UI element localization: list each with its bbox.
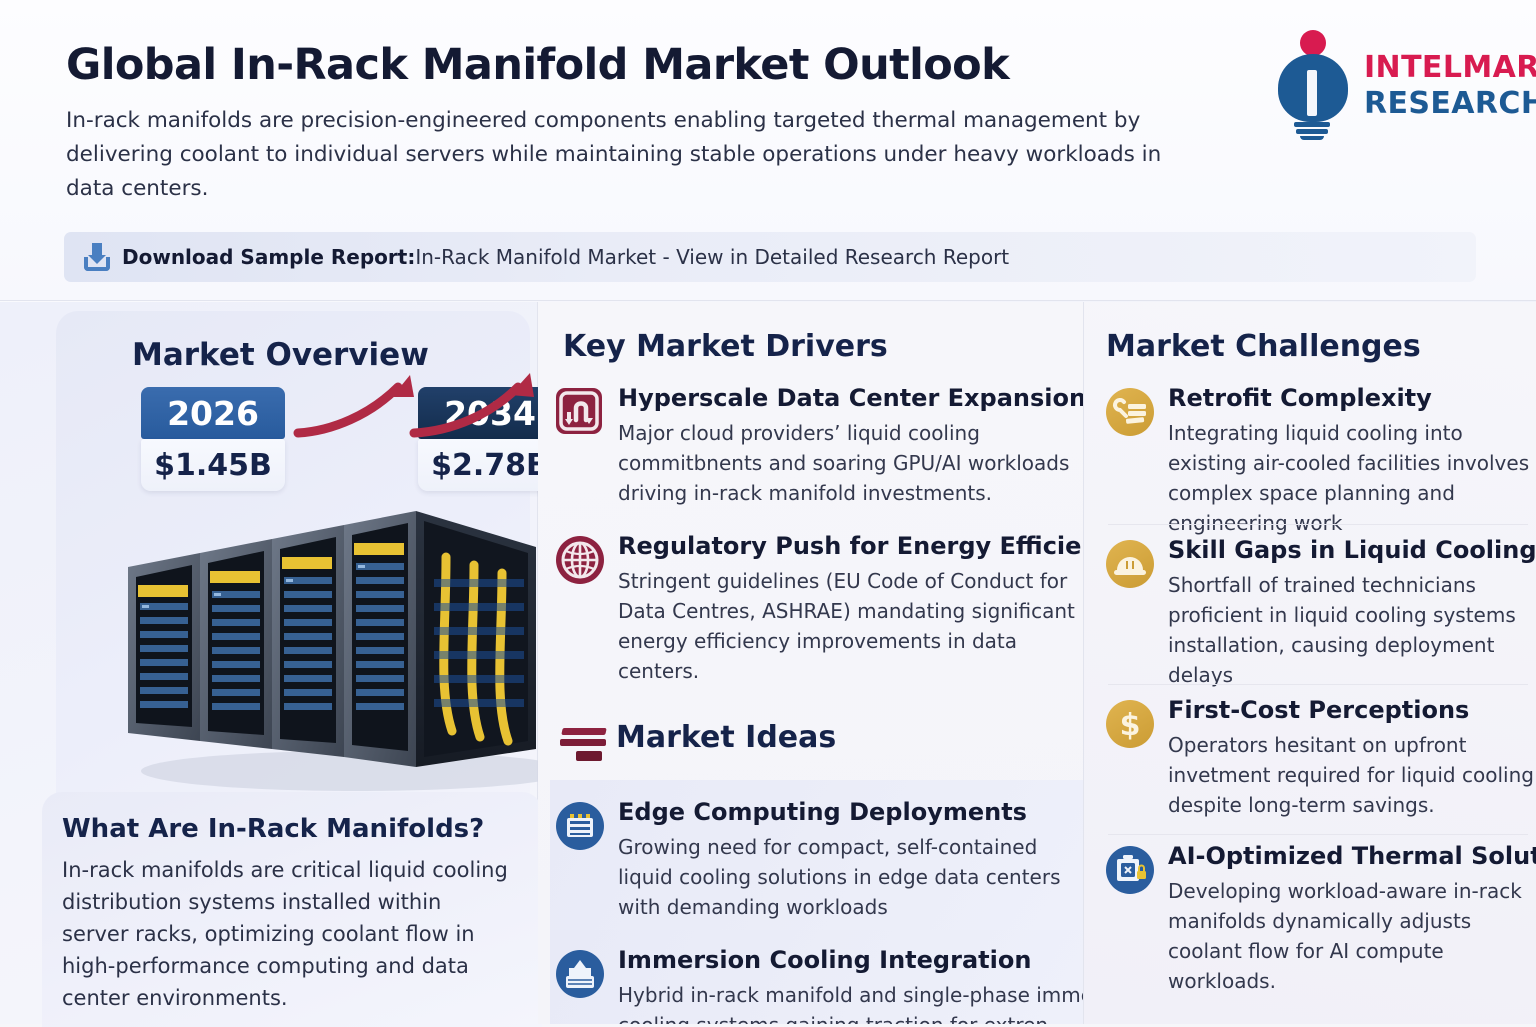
logo-text-secondary: RESEARCH [1364,86,1536,121]
challenge-heading: Skill Gaps in Liquid Cooling Deployment [1168,536,1536,564]
banner-label: Download Sample Report: [122,245,415,269]
page-subtitle: In-rack manifolds are precision-engineer… [66,104,1216,206]
challenge-body: Integrating liquid cooling into existing… [1168,418,1536,538]
idea-body: Hybrid in-rack manifold and single-phase… [618,980,1083,1024]
challenge-heading: Retrofit Complexity [1168,384,1432,412]
globe-icon [556,536,604,584]
immersion-tank-icon [556,950,604,998]
base-year-value: $1.45B [141,439,285,491]
challenge-body: Shortfall of trained technicians profici… [1168,570,1536,690]
lightbulb-icon [1268,30,1356,134]
market-ideas-bars-icon [560,726,608,764]
challenge-heading: First-Cost Perceptions [1168,696,1469,724]
market-overview-card: Market Overview 2026 $1.45B 2034 $2.78B [56,311,530,811]
challenge-separator [1108,684,1528,685]
challenges-section-title: Market Challenges [1106,329,1421,364]
download-icon [84,243,110,271]
logo-text-primary: INTELMARKET [1364,50,1536,85]
challenge-body: Developing workload-aware in-rack manifo… [1168,876,1536,996]
svg-text:$: $ [1120,708,1141,743]
ideas-section-title: Market Ideas [616,720,836,755]
idea-card: Immersion Cooling Integration Hybrid in-… [550,930,1083,1024]
header-divider [0,300,1536,301]
challenge-separator [1108,524,1528,525]
what-are-title: What Are In-Rack Manifolds? [62,814,484,844]
idea-heading: Immersion Cooling Integration [618,946,1031,974]
market-overview-column: Market Overview 2026 $1.45B 2034 $2.78B [0,302,537,1024]
header: Global In-Rack Manifold Market Outlook I… [0,0,1536,300]
idea-heading: Edge Computing Deployments [618,798,1027,826]
banner-link-text[interactable]: In-Rack Manifold Market - View in Detail… [415,245,1009,269]
driver-heading: Hyperscale Data Center Expansion [618,384,1083,412]
brand-logo: INTELMARKET RESEARCH [1262,24,1524,136]
hard-hat-icon [1106,540,1154,588]
idea-body: Growing need for compact, self-contained… [618,832,1083,922]
market-overview-title: Market Overview [132,337,429,373]
base-year-badge: 2026 $1.45B [141,387,285,491]
base-year-label: 2026 [141,387,285,439]
server-rack-illustration [116,499,582,799]
download-sample-report-banner[interactable]: Download Sample Report: In-Rack Manifold… [64,232,1476,282]
drivers-section-title: Key Market Drivers [563,329,888,364]
challenge-heading: AI-Optimized Thermal Solutions [1168,842,1536,870]
page-title: Global In-Rack Manifold Market Outlook [66,40,1009,90]
what-are-card: What Are In-Rack Manifolds? In-rack mani… [42,792,542,1027]
infographic-page: Global In-Rack Manifold Market Outlook I… [0,0,1536,1024]
market-challenges-column: Market Challenges Retrofit Complexity I [1084,302,1536,1024]
wrench-layers-icon [1106,388,1154,436]
idea-card: Edge Computing Deployments Growing need … [550,780,1083,930]
faucet-pipe-icon [556,388,602,434]
server-rack-icon [556,802,604,850]
driver-body: Major cloud providers’ liquid cooling co… [618,418,1080,508]
challenge-separator [1108,834,1528,835]
key-market-drivers-column: Key Market Drivers Hyperscale Data Cente… [538,302,1083,1024]
ai-monitor-lock-icon [1106,846,1154,894]
driver-heading: Regulatory Push for Energy Efficiency [618,532,1083,560]
challenge-body: Operators hesitant on upfront invetment … [1168,730,1536,820]
dollar-coin-icon: $ [1106,700,1154,748]
what-are-body: In-rack manifolds are critical liquid co… [62,854,514,1014]
driver-body: Stringent guidelines (EU Code of Conduct… [618,566,1083,686]
